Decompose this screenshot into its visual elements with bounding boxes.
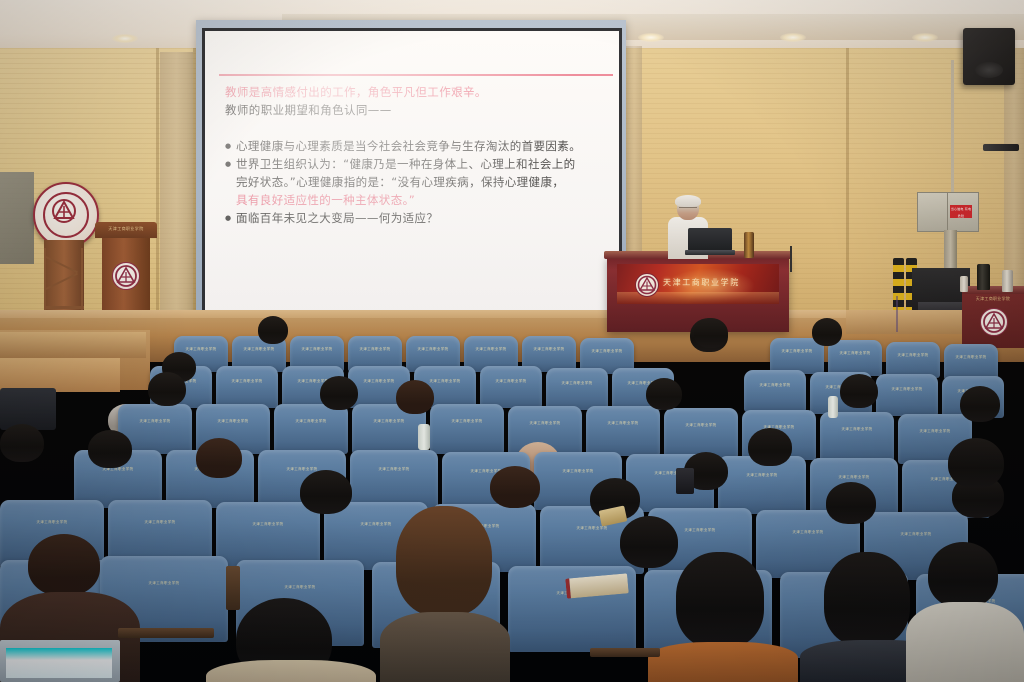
slide-bullet-highlight: 具有良好适应性的一种主体状态。” xyxy=(225,191,607,209)
seat: 天津工商职业学院 xyxy=(876,374,938,416)
audience-head xyxy=(928,542,998,608)
seat: 天津工商职业学院 xyxy=(820,412,894,462)
hanging-cable xyxy=(896,296,898,332)
seat-embroidery: 天津工商职业学院 xyxy=(174,346,228,351)
presentation-slide: 教师是高情感付出的工作，角色平凡但工作艰辛。 教师的职业期望和角色认同—— 心理… xyxy=(205,31,619,313)
water-bottle-icon xyxy=(828,396,838,418)
desk-banner: 天津工商职业学院 xyxy=(617,264,779,304)
audience-head xyxy=(694,318,728,348)
seat-embroidery: 天津工商职业学院 xyxy=(196,418,270,423)
seat-embroidery: 天津工商职业学院 xyxy=(664,422,738,427)
side-chair xyxy=(0,388,56,430)
armrest xyxy=(226,566,240,610)
seat-embroidery: 天津工商职业学院 xyxy=(348,346,402,351)
seal-mark-icon xyxy=(636,274,658,296)
seat-embroidery: 天津工商职业学院 xyxy=(236,584,364,589)
audience-head xyxy=(0,424,44,462)
seat-embroidery: 天津工商职业学院 xyxy=(944,354,998,359)
seat: 天津工商职业学院 xyxy=(480,366,542,408)
wall-fabric-patch xyxy=(0,172,34,264)
seat-embroidery: 天津工商职业学院 xyxy=(216,521,320,526)
audience-head xyxy=(620,516,678,568)
seat: 天津工商职业学院 xyxy=(546,368,608,410)
seat-embroidery: 天津工商职业学院 xyxy=(430,418,504,423)
seat-embroidery: 天津工商职业学院 xyxy=(744,382,806,387)
emblem-mark-icon xyxy=(51,198,77,224)
stage-podium: 天津工商职业学院 xyxy=(95,222,157,314)
seat-embroidery: 天津工商职业学院 xyxy=(216,378,278,383)
seat: 天津工商职业学院 xyxy=(274,404,348,454)
emblem-stand xyxy=(44,240,84,312)
seat-embroidery: 天津工商职业学院 xyxy=(586,420,660,425)
presenter-laptop xyxy=(688,228,732,256)
audience-head xyxy=(812,318,842,346)
audience-head xyxy=(840,374,878,408)
thermos-icon xyxy=(977,264,990,290)
seat: 天津工商职业学院 xyxy=(944,344,998,380)
lectern-top xyxy=(962,286,1024,294)
audience-head xyxy=(28,534,100,596)
seat-embroidery: 天津工商职业学院 xyxy=(108,519,212,524)
audience-head xyxy=(88,430,132,468)
seat-embroidery: 天津工商职业学院 xyxy=(118,418,192,423)
hazard-post xyxy=(893,258,904,316)
side-table-left xyxy=(0,332,146,358)
downlight-icon xyxy=(912,33,938,42)
seat-embroidery: 天津工商职业学院 xyxy=(876,386,938,391)
seat: 天津工商职业学院 xyxy=(886,342,940,378)
seat-embroidery: 天津工商职业学院 xyxy=(508,420,582,425)
laptop-lid xyxy=(688,228,732,251)
seat: 天津工商职业学院 xyxy=(664,408,738,458)
audience-head xyxy=(148,372,186,406)
podium-top: 天津工商职业学院 xyxy=(95,222,157,238)
armrest xyxy=(118,628,214,638)
seat-embroidery: 天津工商职业学院 xyxy=(290,346,344,351)
cup-icon xyxy=(960,276,968,292)
seat-embroidery: 天津工商职业学院 xyxy=(274,418,348,423)
audience-head xyxy=(320,376,358,410)
phone-icon xyxy=(676,468,694,494)
seat-embroidery: 天津工商职业学院 xyxy=(756,529,860,534)
seat-embroidery: 天津工商职业学院 xyxy=(480,378,542,383)
right-lectern: 天津工商职业学院 xyxy=(962,286,1024,348)
seat: 天津工商职业学院 xyxy=(828,340,882,376)
seat-embroidery: 天津工商职业学院 xyxy=(406,346,460,351)
presenter-hair xyxy=(675,195,701,207)
laptop-base xyxy=(685,250,735,255)
seat-embroidery: 天津工商职业学院 xyxy=(350,466,438,471)
podium-seal xyxy=(112,262,140,290)
water-bottle-icon xyxy=(418,424,430,450)
seat-embroidery: 天津工商职业学院 xyxy=(0,519,104,524)
seat: 天津工商职业学院 xyxy=(350,450,438,508)
seat-embroidery: 天津工商职业学院 xyxy=(770,348,824,353)
audience-head-long-hair xyxy=(396,506,492,616)
seal-mark-icon xyxy=(981,309,1007,335)
seat-embroidery: 天津工商职业学院 xyxy=(348,378,410,383)
seal-mark-icon xyxy=(113,263,139,289)
slide-text-body: 教师是高情感付出的工作，角色平凡但工作艰辛。 教师的职业期望和角色认同—— 心理… xyxy=(225,83,607,227)
downlight-icon xyxy=(780,33,806,42)
truss-bar xyxy=(81,248,83,310)
audience-head xyxy=(948,438,1004,488)
glasses-icon xyxy=(679,207,697,212)
seat-embroidery: 天津工商职业学院 xyxy=(546,380,608,385)
seat-embroidery: 天津工商职业学院 xyxy=(898,428,972,433)
audience-head xyxy=(490,466,540,508)
thermos-icon xyxy=(1002,270,1013,292)
laptop-screen xyxy=(6,648,112,678)
box-divider xyxy=(947,193,948,231)
audience-head-long-hair xyxy=(824,552,910,646)
downlight-icon xyxy=(112,34,138,43)
seat-embroidery: 天津工商职业学院 xyxy=(464,346,518,351)
stage-step-lower xyxy=(0,358,120,392)
audience-head xyxy=(960,386,1000,422)
seat-embroidery: 天津工商职业学院 xyxy=(100,580,228,585)
slide-bullet: 面临百年未见之大变局——何为适应？ xyxy=(225,209,607,227)
lecture-hall-photo: 教师是高情感付出的工作，角色平凡但工作艰辛。 教师的职业期望和角色认同—— 心理… xyxy=(0,0,1024,682)
seat: 天津工商职业学院 xyxy=(430,404,504,454)
audience-head xyxy=(646,378,682,410)
seat-embroidery: 天津工商职业学院 xyxy=(810,474,898,479)
seat-embroidery: 天津工商职业学院 xyxy=(580,348,634,353)
audience-shoulders xyxy=(206,660,376,682)
slide-bullet-cont: 完好状态。”心理健康指的是：“没有心理疾病，保持心理健康， xyxy=(225,173,607,191)
downlight-icon xyxy=(638,33,664,42)
audience-head xyxy=(258,316,288,344)
speaker-cone xyxy=(975,62,1003,78)
banner-seal xyxy=(635,273,659,297)
audience-shoulders xyxy=(906,602,1024,682)
truss-base xyxy=(44,306,84,309)
seat-embroidery: 天津工商职业学院 xyxy=(820,426,894,431)
conduit-riser xyxy=(944,230,957,268)
seat-embroidery: 天津工商职业学院 xyxy=(864,531,968,536)
audience-head xyxy=(396,380,434,414)
audience-head xyxy=(826,482,876,524)
seat: 天津工商职业学院 xyxy=(586,406,660,456)
wall-seam xyxy=(846,48,849,316)
microphone-stand xyxy=(790,246,792,272)
slide-heading: 教师是高情感付出的工作，角色平凡但工作艰辛。 xyxy=(225,83,607,101)
seat-embroidery: 天津工商职业学院 xyxy=(352,418,426,423)
seat-embroidery: 天津工商职业学院 xyxy=(232,346,286,351)
banner-institution-name: 天津工商职业学院 xyxy=(663,277,740,288)
seat-embroidery: 天津工商职业学院 xyxy=(886,352,940,357)
lectern-seal xyxy=(980,308,1008,336)
electrical-box: 当心触电 有电危险 xyxy=(917,192,979,232)
podium-label: 天津工商职业学院 xyxy=(103,226,149,232)
thermos-icon xyxy=(744,232,754,258)
wall-conduit xyxy=(951,60,954,194)
slide-bullet: 心理健康与心理素质是当今社会社会竞争与生存淘汰的首要因素。 xyxy=(225,137,607,155)
slide-accent-rule xyxy=(219,74,613,76)
slide-bullet: 世界卫生组织认为：“健康乃是一种在身体上、心理上和社会上的 xyxy=(225,155,607,173)
audience-head xyxy=(300,470,352,514)
audience-shoulders xyxy=(380,612,510,682)
college-emblem xyxy=(33,182,99,248)
seat: 天津工商职业学院 xyxy=(216,366,278,408)
armrest xyxy=(590,648,660,657)
seat-embroidery: 天津工商职业学院 xyxy=(522,346,576,351)
wall-pillar xyxy=(160,52,193,318)
seat-embroidery: 天津工商职业学院 xyxy=(828,350,882,355)
seat-embroidery: 天津工商职业学院 xyxy=(718,472,806,477)
seat: 天津工商职业学院 xyxy=(770,338,824,374)
audience-shoulders xyxy=(648,642,798,682)
wall-speaker-icon xyxy=(963,28,1015,85)
audience-head xyxy=(748,428,792,466)
electrical-warning-label: 当心触电 有电危险 xyxy=(950,205,972,218)
seat-embroidery: 天津工商职业学院 xyxy=(534,468,622,473)
slide-subheading: 教师的职业期望和角色认同—— xyxy=(225,101,607,119)
wall-bracket xyxy=(983,144,1019,151)
seat-embroidery: 天津工商职业学院 xyxy=(742,424,816,429)
lectern-label: 天津工商职业学院 xyxy=(966,296,1020,302)
audience-head-long-hair xyxy=(676,552,764,648)
seat: 天津工商职业学院 xyxy=(744,370,806,412)
audience-head xyxy=(196,438,242,478)
